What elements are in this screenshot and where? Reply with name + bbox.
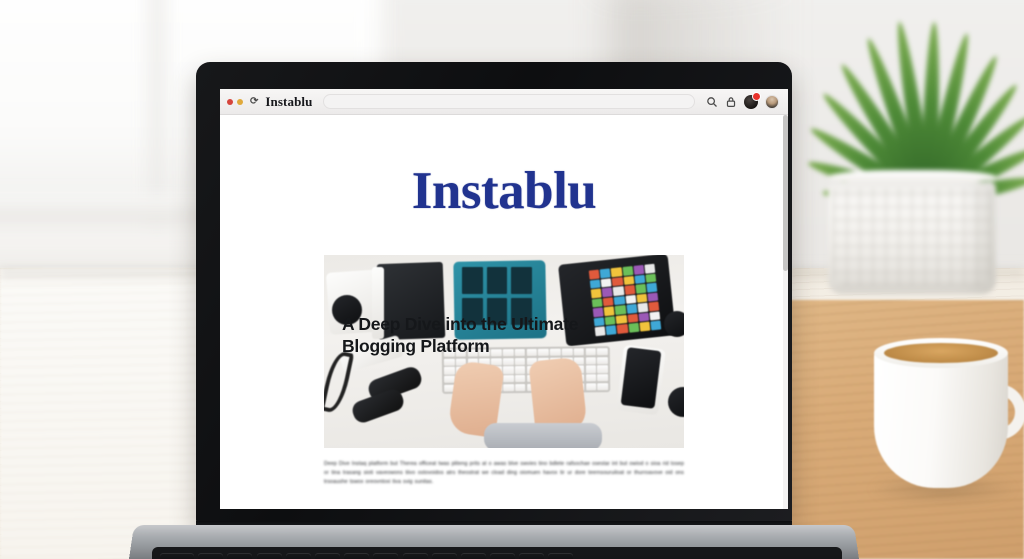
key-f12 bbox=[519, 553, 544, 559]
key-f4 bbox=[286, 553, 311, 559]
scene-photo: ⟳ Instablu bbox=[0, 0, 1024, 559]
laptop: ⟳ Instablu bbox=[186, 62, 802, 559]
page-viewport: Instablu bbox=[220, 115, 788, 509]
page-scrollbar[interactable] bbox=[783, 115, 788, 509]
keyboard-row-function bbox=[160, 553, 573, 559]
key-f11 bbox=[490, 553, 515, 559]
key-f10 bbox=[461, 553, 486, 559]
minimize-window-dot[interactable] bbox=[237, 99, 243, 105]
key-f7 bbox=[373, 553, 398, 559]
coffee-liquid bbox=[884, 343, 998, 363]
key-f5 bbox=[315, 553, 340, 559]
reload-icon[interactable]: ⟳ bbox=[250, 97, 258, 107]
browser-tab-title[interactable]: Instablu bbox=[265, 94, 312, 110]
notification-badge bbox=[752, 92, 761, 101]
key-f1 bbox=[198, 553, 223, 559]
key-f6 bbox=[344, 553, 369, 559]
laptop-lid: ⟳ Instablu bbox=[196, 62, 792, 525]
scrollbar-thumb[interactable] bbox=[783, 115, 788, 271]
address-bar[interactable] bbox=[323, 94, 695, 109]
notifications-icon[interactable] bbox=[744, 95, 758, 109]
key-f9 bbox=[432, 553, 457, 559]
hero-caption: A Deep Dive into the Ultimate Blogging P… bbox=[342, 313, 642, 358]
avatar[interactable] bbox=[765, 95, 779, 109]
browser-chrome: ⟳ Instablu bbox=[220, 89, 788, 115]
hero-object-headphone-cup bbox=[664, 311, 684, 337]
key-power bbox=[548, 553, 573, 559]
hero-object-sleeve bbox=[484, 423, 602, 448]
key-f8 bbox=[403, 553, 428, 559]
close-window-dot[interactable] bbox=[227, 99, 233, 105]
page-title: Instablu bbox=[220, 161, 788, 221]
key-f2 bbox=[227, 553, 252, 559]
key-esc bbox=[160, 553, 194, 559]
lock-icon[interactable] bbox=[725, 96, 737, 108]
article-body: Deep Dive Instaq platform but Therea off… bbox=[324, 460, 684, 488]
pot-texture bbox=[833, 188, 991, 286]
laptop-keyboard-deck bbox=[152, 547, 842, 559]
hero-caption-line-2: Blogging Platform bbox=[342, 335, 642, 357]
browser-actions bbox=[706, 95, 781, 109]
hero-caption-line-1: A Deep Dive into the Ultimate bbox=[342, 313, 642, 335]
window-controls[interactable] bbox=[227, 99, 243, 105]
laptop-screen: ⟳ Instablu bbox=[220, 89, 788, 509]
potted-succulent bbox=[800, 0, 1024, 280]
hero-image: A Deep Dive into the Ultimate Blogging P… bbox=[324, 255, 684, 448]
plant-pot bbox=[828, 182, 996, 294]
key-f3 bbox=[257, 553, 282, 559]
search-icon[interactable] bbox=[706, 96, 718, 108]
coffee-cup bbox=[868, 332, 1024, 517]
article-paragraph: Deep Dive Instaq platform but Therea off… bbox=[324, 460, 684, 488]
